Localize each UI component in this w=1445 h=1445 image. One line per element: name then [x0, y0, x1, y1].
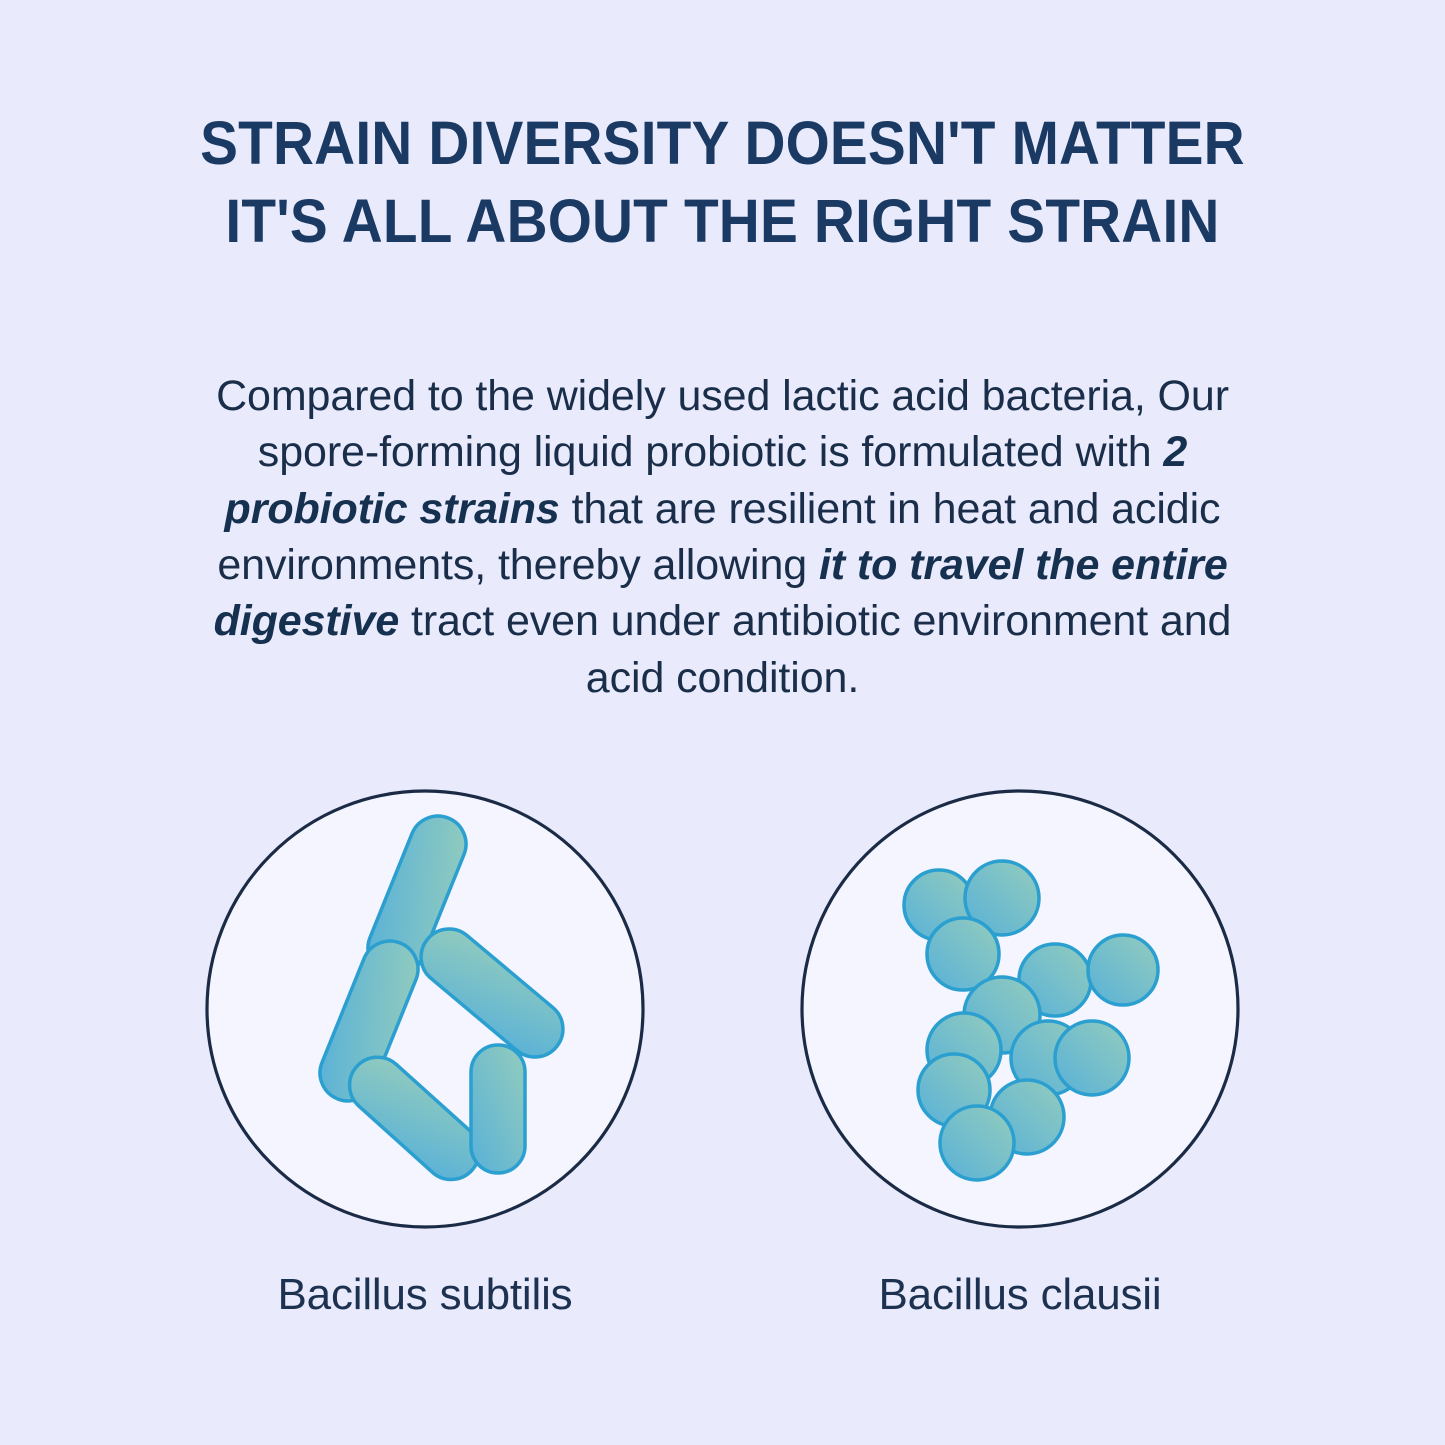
bacillus-subtilis-illustration — [202, 786, 648, 1232]
body-segment-1: Compared to the widely used lactic acid … — [216, 372, 1229, 476]
panel-bacillus-clausii: Bacillus clausii — [785, 780, 1255, 1360]
panel-bacillus-subtilis: Bacillus subtilis — [190, 780, 660, 1360]
infographic-page: STRAIN DIVERSITY DOESN'T MATTER IT'S ALL… — [0, 0, 1445, 1445]
body-segment-3: tract even under antibiotic environment … — [399, 597, 1231, 701]
page-title: STRAIN DIVERSITY DOESN'T MATTER IT'S ALL… — [51, 104, 1395, 260]
bacillus-clausii-illustration — [797, 786, 1243, 1232]
caption-bacillus-subtilis: Bacillus subtilis — [190, 1270, 660, 1320]
body-paragraph: Compared to the widely used lactic acid … — [205, 368, 1240, 706]
headline-line-2: IT'S ALL ABOUT THE RIGHT STRAIN — [51, 182, 1395, 260]
strain-panels: Bacillus subtilis — [0, 780, 1445, 1360]
headline-line-1: STRAIN DIVERSITY DOESN'T MATTER — [51, 104, 1395, 182]
caption-bacillus-clausii: Bacillus clausii — [785, 1270, 1255, 1320]
